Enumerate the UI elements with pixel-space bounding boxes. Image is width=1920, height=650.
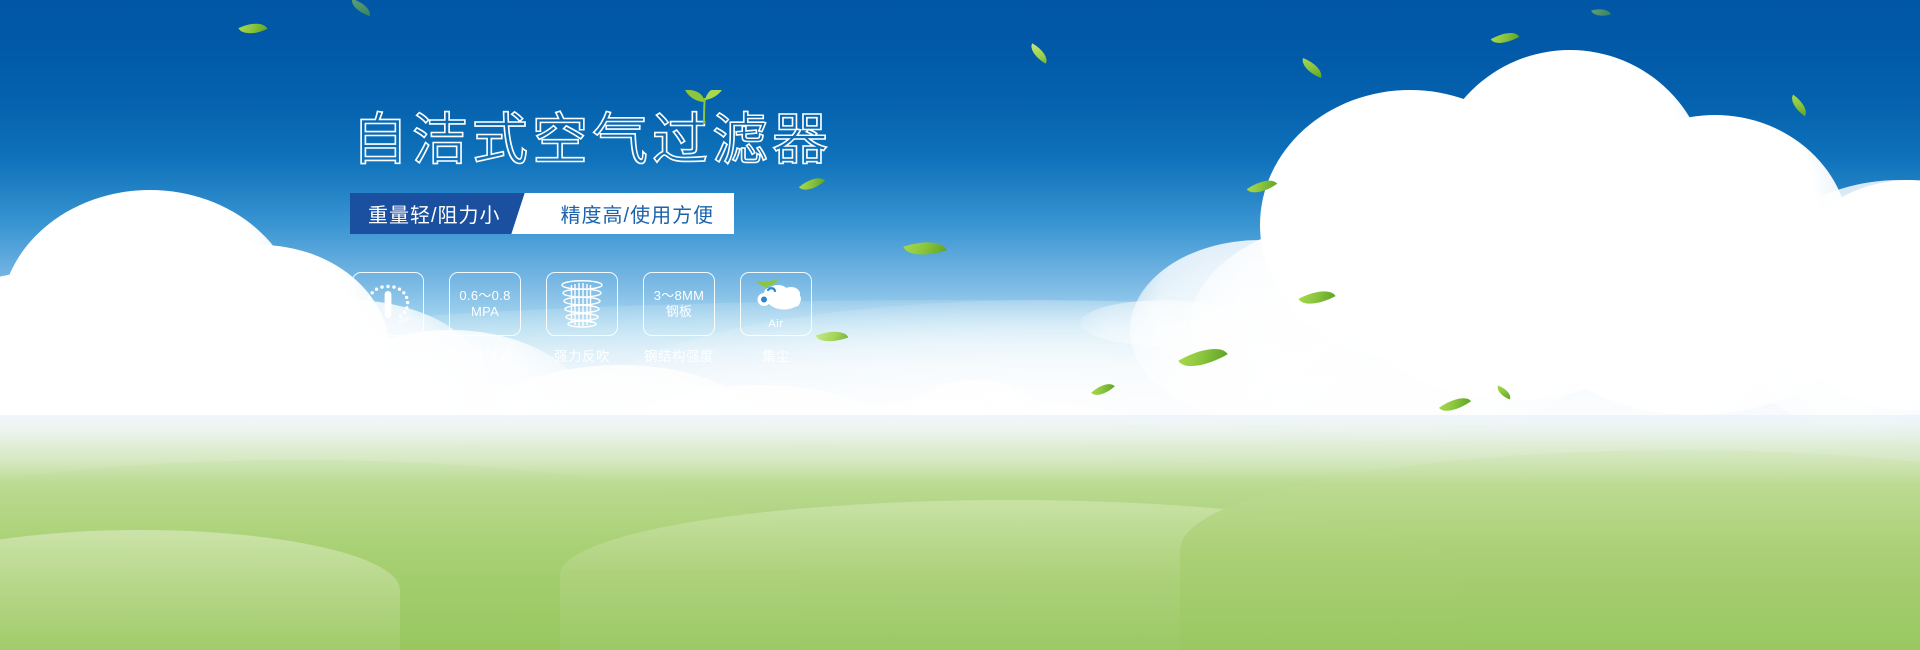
feature-item-filtration: 0.6～0.8 MPA 二级过滤 xyxy=(449,272,521,365)
dial-on-label: NO xyxy=(363,297,374,310)
feature-icon-box: 0.6～0.8 MPA xyxy=(449,272,521,336)
filter-cartridge-icon xyxy=(559,279,605,329)
badge-group: 重量轻/阻力小 精度高/使用方便 xyxy=(350,193,734,234)
dial-off-label: OFF xyxy=(397,316,412,328)
feature-line2: MPA xyxy=(471,304,499,320)
control-dial-icon: NO OFF xyxy=(362,280,414,328)
badge-precision: 精度高/使用方便 xyxy=(531,193,735,234)
feature-line1: 3～8MM xyxy=(654,288,705,304)
feature-label: 集尘 xyxy=(762,345,790,365)
feature-icon-box: NO OFF xyxy=(352,272,424,336)
feature-icon-box: Air xyxy=(740,272,812,336)
content-layer: 自洁式空气过滤器 重量轻/阻力小 精度高/使用方便 xyxy=(0,0,1920,650)
cloud-air-caption: Air xyxy=(768,318,783,330)
page-title: 自洁式空气过滤器 xyxy=(352,112,832,168)
feature-list: NO OFF 控制仪 0.6～0.8 MPA 二级过滤 xyxy=(352,272,812,365)
feature-label: 钢结构强度 xyxy=(644,345,714,365)
leaf-sprout-icon xyxy=(682,90,728,124)
feature-label: 控制仪 xyxy=(367,345,409,365)
feature-label: 二级过滤 xyxy=(457,345,513,365)
feature-item-controller: NO OFF 控制仪 xyxy=(352,272,424,365)
feature-item-dust: Air 集尘 xyxy=(740,272,812,365)
title-block: 自洁式空气过滤器 xyxy=(352,112,832,168)
feature-icon-box: 3～8MM 钢板 xyxy=(643,272,715,336)
feature-line1: 0.6～0.8 xyxy=(459,288,510,304)
feature-label: 强力反吹 xyxy=(554,345,610,365)
badge-lightweight: 重量轻/阻力小 xyxy=(350,193,531,234)
badge-label: 重量轻/阻力小 xyxy=(368,199,501,228)
feature-icon-box xyxy=(546,272,618,336)
cloud-air-icon xyxy=(748,277,804,319)
feature-line2: 钢板 xyxy=(666,304,693,320)
hero-banner: 自洁式空气过滤器 重量轻/阻力小 精度高/使用方便 xyxy=(0,0,1920,650)
badge-label: 精度高/使用方便 xyxy=(561,199,715,228)
feature-item-steel: 3～8MM 钢板 钢结构强度 xyxy=(643,272,715,365)
feature-item-blowback: 强力反吹 xyxy=(546,272,618,365)
